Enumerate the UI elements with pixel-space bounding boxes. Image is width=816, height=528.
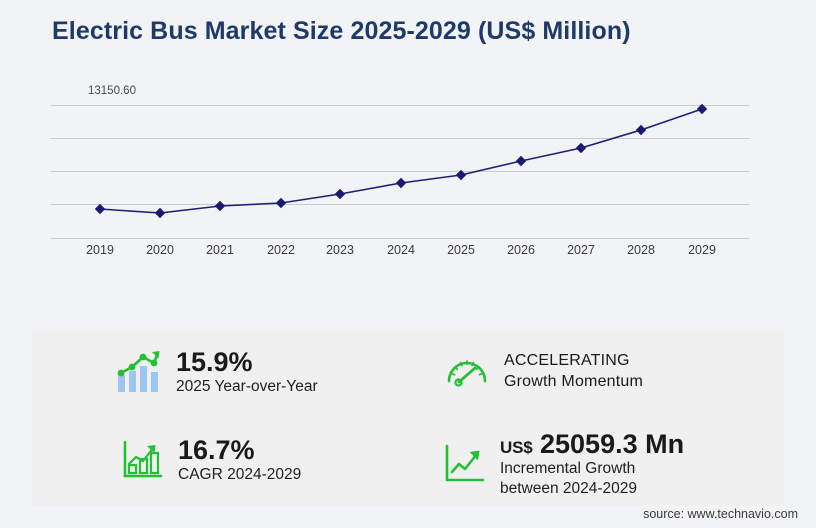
- stat-incremental-line1: Incremental Growth: [500, 459, 684, 479]
- data-point-2029: [697, 104, 707, 114]
- stat-momentum-text: ACCELERATING Growth Momentum: [504, 350, 643, 393]
- x-tick-2022: 2022: [251, 243, 311, 257]
- source-text: source: www.technavio.com: [643, 507, 798, 521]
- stat-cagr: 16.7% CAGR 2024-2029: [122, 435, 301, 485]
- x-tick-2020: 2020: [130, 243, 190, 257]
- x-tick-2019: 2019: [70, 243, 130, 257]
- stats-panel: 15.9% 2025 Year-over-Year: [32, 331, 784, 506]
- stat-cagr-caption: CAGR 2024-2029: [178, 465, 301, 485]
- x-tick-2024: 2024: [371, 243, 431, 257]
- stat-momentum-line1: ACCELERATING: [504, 350, 643, 371]
- x-tick-2028: 2028: [611, 243, 671, 257]
- data-point-2024: [396, 178, 406, 188]
- data-point-2021: [215, 201, 225, 211]
- data-point-2025: [456, 170, 466, 180]
- chart-series-svg: [50, 88, 750, 238]
- bar-chart-arrow-icon: [122, 438, 164, 482]
- data-point-2026: [516, 156, 526, 166]
- stat-yoy: 15.9% 2025 Year-over-Year: [114, 347, 318, 397]
- stat-cagr-value: 16.7%: [178, 435, 301, 465]
- infographic-page: Electric Bus Market Size 2025-2029 (US$ …: [0, 0, 816, 528]
- data-point-2022: [276, 198, 286, 208]
- data-point-2028: [636, 125, 646, 135]
- x-tick-2029: 2029: [672, 243, 732, 257]
- stat-incremental-text: US$ 25059.3 Mn Incremental Growth betwee…: [500, 429, 684, 499]
- stat-incremental-amount: 25059.3 Mn: [540, 429, 684, 459]
- gridline: [50, 238, 750, 239]
- stat-incremental-value: US$ 25059.3 Mn: [500, 429, 684, 459]
- x-tick-2027: 2027: [551, 243, 611, 257]
- data-point-2020: [155, 208, 165, 218]
- speedometer-icon: [444, 349, 490, 393]
- data-point-2023: [335, 189, 345, 199]
- stat-incremental-unit: US$: [500, 438, 532, 457]
- stat-momentum-line2: Growth Momentum: [504, 371, 643, 392]
- x-tick-2023: 2023: [310, 243, 370, 257]
- chart-x-axis: 2019 2020 2021 2022 2023 2024 2025 2026 …: [50, 243, 750, 267]
- data-point-2019: [95, 204, 105, 214]
- stat-incremental-line2: between 2024-2029: [500, 479, 684, 499]
- stat-momentum: ACCELERATING Growth Momentum: [444, 349, 643, 393]
- line-chart: 13150.60 2019 2020 2021 2022 2023 2024 2…: [0, 88, 816, 278]
- bar-line-growth-icon: [114, 349, 162, 395]
- trend-arrow-icon: [444, 441, 486, 487]
- x-tick-2021: 2021: [190, 243, 250, 257]
- stat-incremental: US$ 25059.3 Mn Incremental Growth betwee…: [444, 429, 684, 499]
- page-title: Electric Bus Market Size 2025-2029 (US$ …: [52, 17, 631, 46]
- data-point-2027: [576, 143, 586, 153]
- stat-cagr-text: 16.7% CAGR 2024-2029: [178, 435, 301, 485]
- stat-yoy-caption: 2025 Year-over-Year: [176, 377, 318, 397]
- stat-yoy-value: 15.9%: [176, 347, 318, 377]
- x-tick-2026: 2026: [491, 243, 551, 257]
- x-tick-2025: 2025: [431, 243, 491, 257]
- data-label-2019: 13150.60: [88, 85, 136, 97]
- chart-plot-area: 13150.60: [50, 88, 750, 238]
- stat-yoy-text: 15.9% 2025 Year-over-Year: [176, 347, 318, 397]
